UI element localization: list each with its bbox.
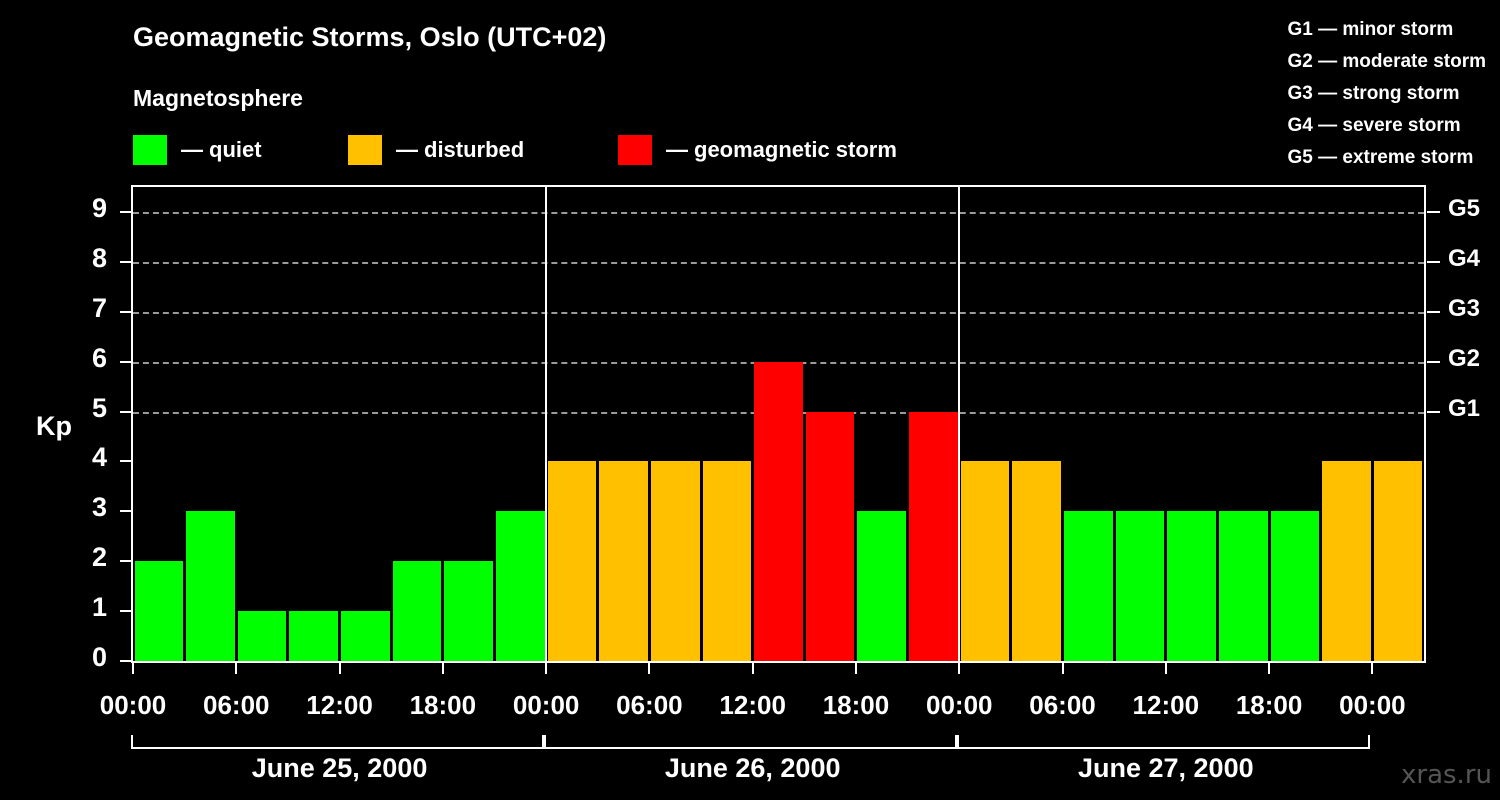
g-legend-row-4: G4 — severe storm <box>1288 110 1487 142</box>
bar-kp <box>186 511 235 661</box>
day-separator <box>545 187 547 661</box>
x-tick-mark-10 <box>1165 663 1167 674</box>
bar-kp <box>1322 461 1371 661</box>
g-tick-label-G5: G5 <box>1448 195 1480 223</box>
legend-swatch-quiet <box>133 135 167 165</box>
bar-kp <box>1116 511 1165 661</box>
day-separator <box>958 187 960 661</box>
date-axis <box>131 735 1426 749</box>
bar-kp <box>806 412 855 661</box>
bar-kp <box>1012 461 1061 661</box>
g-tick-mark-G1 <box>1427 411 1440 413</box>
gridline-kp-7 <box>133 312 1424 314</box>
y-tick-mark-2 <box>120 560 131 562</box>
y-tick-mark-0 <box>120 660 131 662</box>
y-tick-label-0: 0 <box>73 642 107 673</box>
plot-frame <box>131 185 1426 663</box>
date-label: June 25, 2000 <box>252 753 428 784</box>
bar-kp <box>961 461 1010 661</box>
x-tick-mark-3 <box>442 663 444 674</box>
y-tick-mark-3 <box>120 510 131 512</box>
y-tick-label-6: 6 <box>73 343 107 374</box>
x-tick-label-3: 18:00 <box>410 690 477 721</box>
date-bracket <box>544 735 957 749</box>
legend-dash: — <box>396 137 418 163</box>
x-tick-label-8: 00:00 <box>926 690 993 721</box>
x-tick-mark-8 <box>958 663 960 674</box>
y-tick-mark-9 <box>120 211 131 213</box>
bar-kp <box>1374 461 1423 661</box>
x-tick-mark-1 <box>235 663 237 674</box>
legend-swatch-disturbed <box>348 135 382 165</box>
g-tick-label-G3: G3 <box>1448 295 1480 323</box>
y-tick-label-4: 4 <box>73 442 107 473</box>
y-tick-label-7: 7 <box>73 293 107 324</box>
bar-kp <box>1271 511 1320 661</box>
x-tick-label-0: 00:00 <box>100 690 167 721</box>
x-tick-label-6: 12:00 <box>719 690 786 721</box>
bar-kp <box>599 461 648 661</box>
g-tick-label-G1: G1 <box>1448 395 1480 423</box>
legend-label: quiet <box>209 137 262 163</box>
x-tick-mark-9 <box>1062 663 1064 674</box>
g-legend-row-1: G1 — minor storm <box>1288 14 1487 46</box>
y-tick-mark-8 <box>120 261 131 263</box>
date-bracket <box>957 735 1370 749</box>
x-tick-mark-0 <box>132 663 134 674</box>
y-tick-label-8: 8 <box>73 243 107 274</box>
legend-swatch-storm <box>618 135 652 165</box>
watermark: xras.ru <box>1401 760 1492 790</box>
bar-kp <box>444 561 493 661</box>
x-tick-label-7: 18:00 <box>823 690 890 721</box>
y-tick-mark-4 <box>120 460 131 462</box>
y-tick-label-1: 1 <box>73 592 107 623</box>
x-tick-mark-5 <box>648 663 650 674</box>
bar-kp <box>1167 511 1216 661</box>
g-tick-mark-G2 <box>1427 361 1440 363</box>
g-legend-row-2: G2 — moderate storm <box>1288 46 1487 78</box>
gridline-kp-8 <box>133 262 1424 264</box>
bar-kp <box>393 561 442 661</box>
legend-entry-geomagnetic-storm: —geomagnetic storm <box>618 133 897 167</box>
x-tick-mark-11 <box>1268 663 1270 674</box>
g-tick-mark-G5 <box>1427 211 1440 213</box>
g-tick-mark-G4 <box>1427 261 1440 263</box>
date-bracket <box>131 735 544 749</box>
g-tick-label-G2: G2 <box>1448 345 1480 373</box>
bar-kp <box>496 511 545 661</box>
x-tick-label-1: 06:00 <box>203 690 270 721</box>
bar-kp <box>651 461 700 661</box>
geomagnetic-storm-chart: Geomagnetic Storms, Oslo (UTC+02) Magnet… <box>0 0 1500 800</box>
x-tick-mark-7 <box>855 663 857 674</box>
y-tick-mark-7 <box>120 311 131 313</box>
plot-area <box>133 187 1424 661</box>
bar-kp <box>289 611 338 661</box>
bar-kp <box>341 611 390 661</box>
y-tick-mark-6 <box>120 361 131 363</box>
page-title: Geomagnetic Storms, Oslo (UTC+02) <box>133 22 606 53</box>
y-tick-label-9: 9 <box>73 193 107 224</box>
x-tick-label-4: 00:00 <box>513 690 580 721</box>
y-axis-label: Kp <box>36 411 72 442</box>
y-tick-label-2: 2 <box>73 542 107 573</box>
y-tick-label-5: 5 <box>73 393 107 424</box>
g-legend-row-3: G3 — strong storm <box>1288 78 1487 110</box>
x-tick-label-10: 12:00 <box>1133 690 1200 721</box>
chart-subtitle: Magnetosphere <box>133 85 303 112</box>
bar-kp <box>857 511 906 661</box>
date-label: June 26, 2000 <box>665 753 841 784</box>
x-tick-label-9: 06:00 <box>1029 690 1096 721</box>
g-tick-label-G4: G4 <box>1448 245 1480 273</box>
gridline-kp-9 <box>133 212 1424 214</box>
g-scale-legend: G1 — minor stormG2 — moderate stormG3 — … <box>1288 14 1487 174</box>
legend-dash: — <box>666 137 688 163</box>
bar-kp <box>238 611 287 661</box>
bar-kp <box>703 461 752 661</box>
bar-kp <box>1064 511 1113 661</box>
bar-kp <box>548 461 597 661</box>
bar-kp <box>1219 511 1268 661</box>
y-tick-mark-5 <box>120 411 131 413</box>
y-tick-label-3: 3 <box>73 492 107 523</box>
x-tick-label-11: 18:00 <box>1236 690 1303 721</box>
x-tick-mark-4 <box>545 663 547 674</box>
bar-kp <box>754 362 803 661</box>
date-label: June 27, 2000 <box>1078 753 1254 784</box>
x-tick-label-5: 06:00 <box>616 690 683 721</box>
x-tick-label-2: 12:00 <box>306 690 373 721</box>
y-tick-mark-1 <box>120 610 131 612</box>
x-tick-mark-6 <box>752 663 754 674</box>
g-legend-row-5: G5 — extreme storm <box>1288 142 1487 174</box>
g-tick-mark-G3 <box>1427 311 1440 313</box>
legend-entry-disturbed: —disturbed <box>348 133 524 167</box>
legend-label: disturbed <box>424 137 524 163</box>
bar-kp <box>135 561 184 661</box>
legend-entry-quiet: —quiet <box>133 133 262 167</box>
legend-label: geomagnetic storm <box>694 137 897 163</box>
x-tick-mark-12 <box>1371 663 1373 674</box>
x-tick-mark-2 <box>339 663 341 674</box>
bar-kp <box>909 412 958 661</box>
legend-dash: — <box>181 137 203 163</box>
x-tick-label-12: 00:00 <box>1339 690 1406 721</box>
